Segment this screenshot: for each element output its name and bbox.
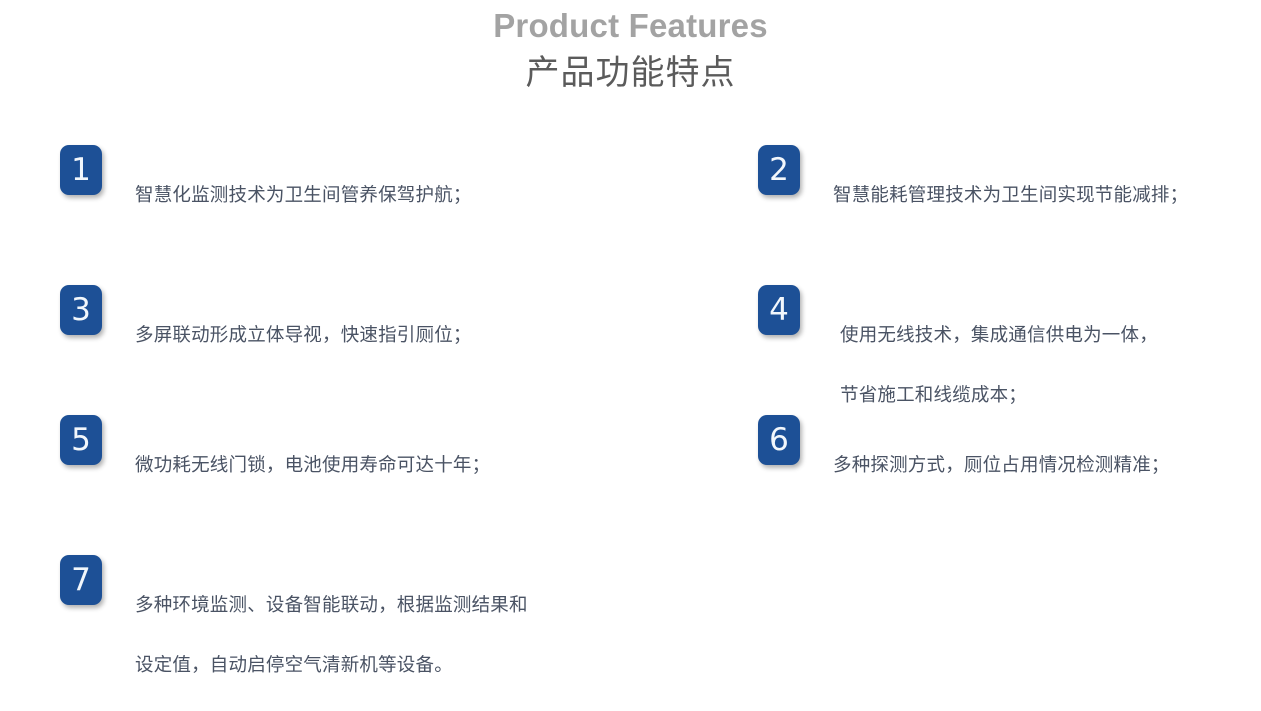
- feature-list: 1 智慧化监测技术为卫生间管养保驾护航； 2 智慧能耗管理技术为卫生间实现节能减…: [0, 132, 1261, 652]
- feature-text-5-line-1: 微功耗无线门锁，电池使用寿命可达十年；: [135, 451, 490, 481]
- feature-number-badge-1: 1: [60, 145, 102, 195]
- feature-text-7-line-1: 多种环境监测、设备智能联动，根据监测结果和: [135, 591, 528, 621]
- feature-text-1: 智慧化监测技术为卫生间管养保驾护航；: [135, 145, 472, 241]
- feature-number-badge-2: 2: [758, 145, 800, 195]
- feature-item-2: 2 智慧能耗管理技术为卫生间实现节能减排；: [758, 145, 1188, 241]
- title-english: Product Features: [0, 6, 1261, 46]
- feature-text-3: 多屏联动形成立体导视，快速指引厕位；: [135, 285, 472, 381]
- feature-number-badge-4: 4: [758, 285, 800, 335]
- feature-text-6-line-1: 多种探测方式，厕位占用情况检测精准；: [833, 451, 1170, 481]
- feature-text-4-line-1: 使用无线技术，集成通信供电为一体，: [840, 321, 1158, 351]
- feature-text-7: 多种环境监测、设备智能联动，根据监测结果和 设定值，自动启停空气清新机等设备。: [135, 555, 528, 711]
- feature-text-5: 微功耗无线门锁，电池使用寿命可达十年；: [135, 415, 490, 511]
- slide-canvas: Product Features 产品功能特点 1 智慧化监测技术为卫生间管养保…: [0, 0, 1261, 661]
- feature-item-5: 5 微功耗无线门锁，电池使用寿命可达十年；: [60, 415, 490, 511]
- feature-text-2: 智慧能耗管理技术为卫生间实现节能减排；: [833, 145, 1188, 241]
- feature-number-badge-5: 5: [60, 415, 102, 465]
- feature-text-4-line-2: 节省施工和线缆成本；: [840, 381, 1158, 411]
- feature-number-badge-7: 7: [60, 555, 102, 605]
- feature-item-7: 7 多种环境监测、设备智能联动，根据监测结果和 设定值，自动启停空气清新机等设备…: [60, 555, 528, 711]
- feature-item-3: 3 多屏联动形成立体导视，快速指引厕位；: [60, 285, 472, 381]
- feature-item-6: 6 多种探测方式，厕位占用情况检测精准；: [758, 415, 1170, 511]
- feature-text-1-line-1: 智慧化监测技术为卫生间管养保驾护航；: [135, 181, 472, 211]
- feature-text-3-line-1: 多屏联动形成立体导视，快速指引厕位；: [135, 321, 472, 351]
- page-title: Product Features 产品功能特点: [0, 6, 1261, 94]
- feature-text-2-line-1: 智慧能耗管理技术为卫生间实现节能减排；: [833, 181, 1188, 211]
- title-chinese: 产品功能特点: [0, 52, 1261, 94]
- feature-text-6: 多种探测方式，厕位占用情况检测精准；: [833, 415, 1170, 511]
- feature-number-badge-6: 6: [758, 415, 800, 465]
- feature-number-badge-3: 3: [60, 285, 102, 335]
- feature-text-7-line-2: 设定值，自动启停空气清新机等设备。: [135, 651, 528, 681]
- feature-item-1: 1 智慧化监测技术为卫生间管养保驾护航；: [60, 145, 472, 241]
